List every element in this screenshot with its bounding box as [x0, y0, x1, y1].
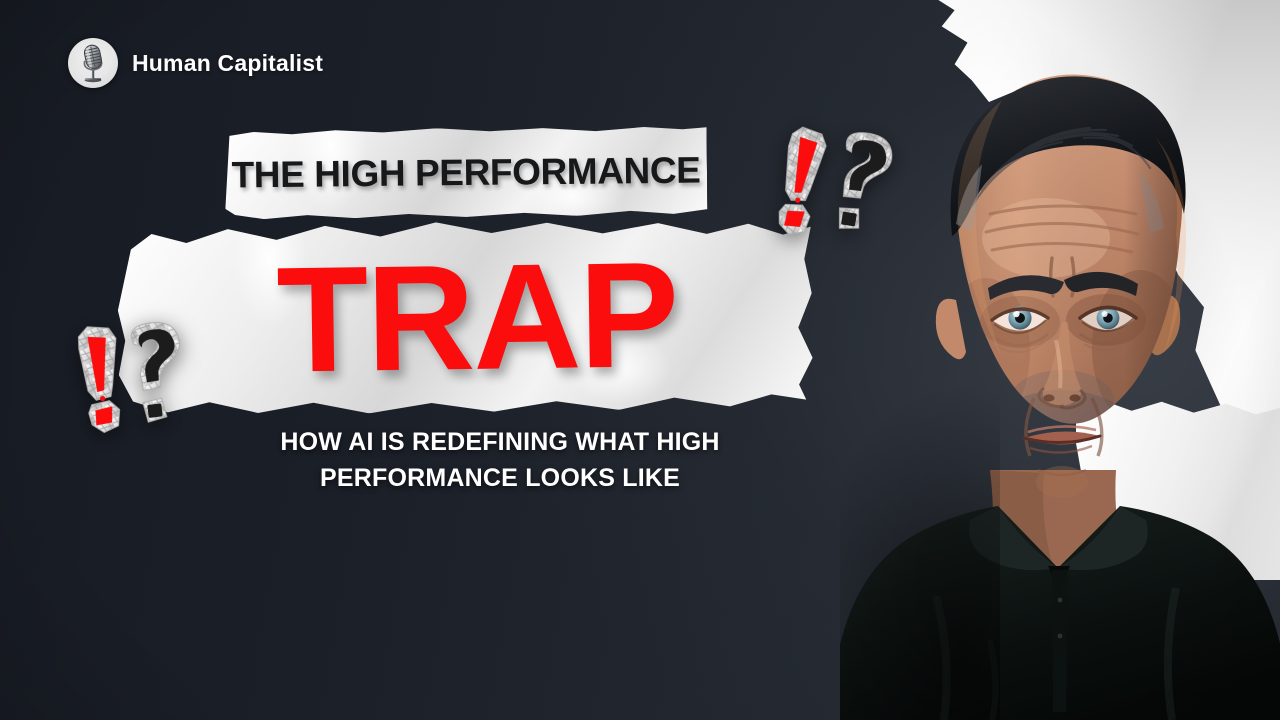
brand-lockup: Human Capitalist — [68, 38, 323, 88]
retro-microphone-icon — [68, 38, 118, 88]
subtitle: HOW AI IS REDEFINING WHAT HIGH PERFORMAN… — [200, 425, 800, 496]
subtitle-line-2: PERFORMANCE LOOKS LIKE — [200, 461, 800, 497]
exclamation-question-decal-bottom-left — [67, 309, 209, 450]
question-decal — [130, 320, 189, 423]
exclamation-decal — [76, 324, 127, 435]
exclamation-decal — [775, 125, 828, 237]
subtitle-line-1: HOW AI IS REDEFINING WHAT HIGH — [200, 425, 800, 461]
thumbnail-canvas: Human Capitalist THE HIGH PERFORMANCE TR… — [0, 0, 1280, 720]
brand-name: Human Capitalist — [132, 50, 323, 77]
portrait-region — [840, 0, 1280, 720]
host-portrait — [840, 0, 1280, 720]
headline-line-1: THE HIGH PERFORMANCE — [225, 125, 708, 219]
question-decal — [833, 130, 895, 234]
headline-line-2: TRAP — [117, 217, 814, 417]
exclamation-question-decal-top-right — [757, 118, 913, 266]
